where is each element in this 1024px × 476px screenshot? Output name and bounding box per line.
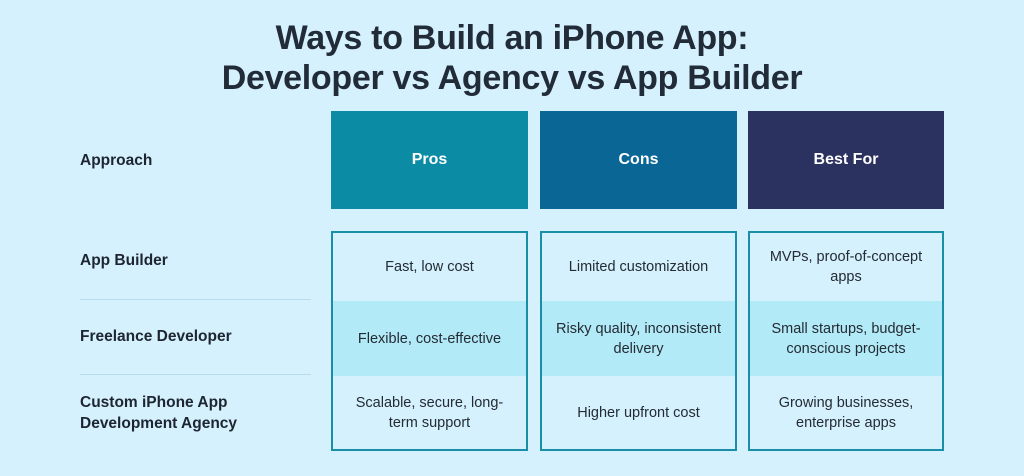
column-body-cons: Limited customization Risky quality, inc… <box>540 231 737 451</box>
comparison-table: Approach App Builder Freelance Developer… <box>80 111 944 451</box>
row-divider <box>80 374 311 375</box>
cell-best-for-custom-agency: Growing businesses, enterprise apps <box>750 376 942 449</box>
row-divider <box>80 299 311 300</box>
column-body-pros: Fast, low cost Flexible, cost-effective … <box>331 231 528 451</box>
column-header-cons: Cons <box>540 111 737 209</box>
cell-cons-freelance-developer: Risky quality, inconsistent delivery <box>542 301 735 376</box>
cell-cons-custom-agency: Higher upfront cost <box>542 376 735 449</box>
cell-best-for-app-builder: MVPs, proof-of-concept apps <box>750 233 942 301</box>
column-body-best-for: MVPs, proof-of-concept apps Small startu… <box>748 231 944 451</box>
cell-cons-app-builder: Limited customization <box>542 233 735 301</box>
column-header-best-for: Best For <box>748 111 944 209</box>
row-label-freelance-developer: Freelance Developer <box>80 299 311 374</box>
row-label-app-builder: App Builder <box>80 223 311 298</box>
table-corner-label: Approach <box>80 111 311 209</box>
cell-pros-app-builder: Fast, low cost <box>333 233 526 301</box>
title-line-1: Ways to Build an iPhone App: <box>0 18 1024 58</box>
cell-best-for-freelance-developer: Small startups, budget-conscious project… <box>750 301 942 376</box>
page-title: Ways to Build an iPhone App: Developer v… <box>0 18 1024 98</box>
row-label-column: Approach App Builder Freelance Developer… <box>80 111 311 451</box>
column-header-pros: Pros <box>331 111 528 209</box>
title-line-2: Developer vs Agency vs App Builder <box>0 58 1024 98</box>
infographic-canvas: Ways to Build an iPhone App: Developer v… <box>0 0 1024 476</box>
cell-pros-custom-agency: Scalable, secure, long-term support <box>333 376 526 449</box>
cell-pros-freelance-developer: Flexible, cost-effective <box>333 301 526 376</box>
row-label-custom-agency: Custom iPhone App Development Agency <box>80 375 311 451</box>
